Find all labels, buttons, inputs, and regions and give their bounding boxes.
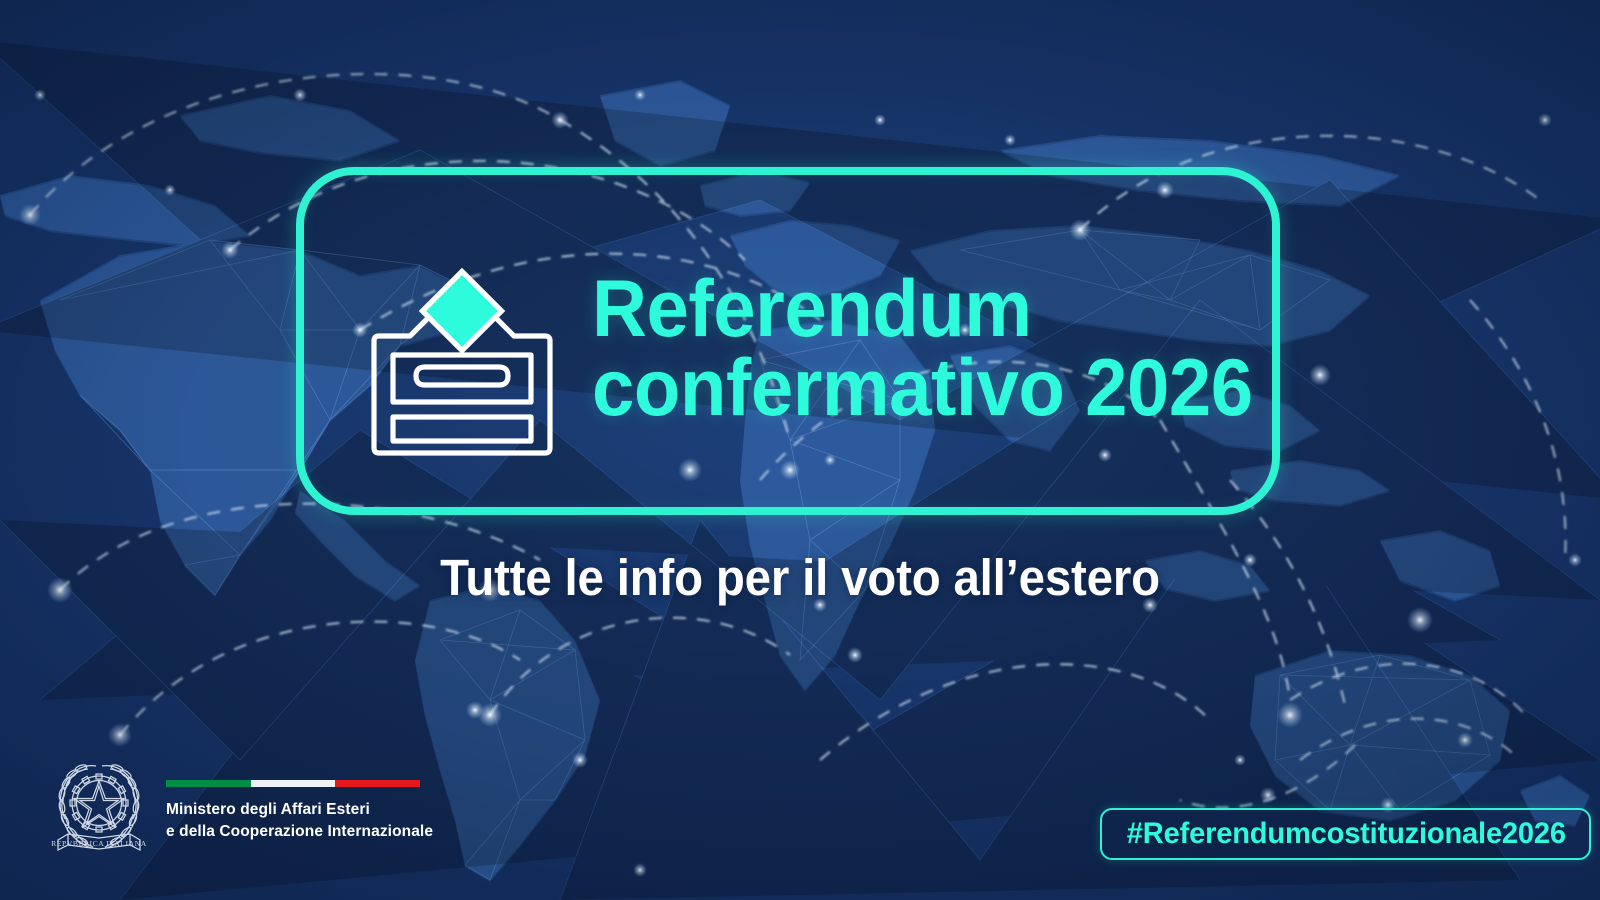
ministry-logo: REPVBBLICA ITALIANA Ministero degli Affa… — [48, 752, 433, 864]
title-line-1: Referendum — [592, 264, 1032, 354]
subtitle: Tutte le info per il voto all’estero — [56, 548, 1544, 607]
hashtag-label: #Referendumcostituzionale2026 — [1127, 817, 1566, 851]
ministry-text: Ministero degli Affari Esteri e della Co… — [166, 799, 433, 843]
flag-stripe-red — [335, 780, 420, 787]
ballot-box-icon — [362, 245, 562, 459]
emblem-motto: REPVBBLICA ITALIANA — [51, 839, 147, 848]
page-title: Referendum confermativo 2026 — [592, 270, 1253, 429]
ministry-line-2: e della Cooperazione Internazionale — [166, 821, 433, 843]
italian-flag-bar — [166, 780, 420, 787]
flag-stripe-white — [251, 780, 336, 787]
ministry-name-block: Ministero degli Affari Esteri e della Co… — [166, 780, 433, 843]
hashtag-badge: #Referendumcostituzionale2026 — [1100, 808, 1591, 860]
flag-stripe-green — [166, 780, 251, 787]
title-line-2: confermativo 2026 — [592, 349, 1253, 428]
referendum-banner: Referendum confermativo 2026 Tutte le in… — [0, 0, 1600, 900]
ministry-line-1: Ministero degli Affari Esteri — [166, 799, 433, 821]
italian-republic-emblem-icon: REPVBBLICA ITALIANA — [48, 752, 150, 864]
hero-frame: Referendum confermativo 2026 — [296, 167, 1280, 515]
hero-content: Referendum confermativo 2026 — [304, 175, 1288, 523]
